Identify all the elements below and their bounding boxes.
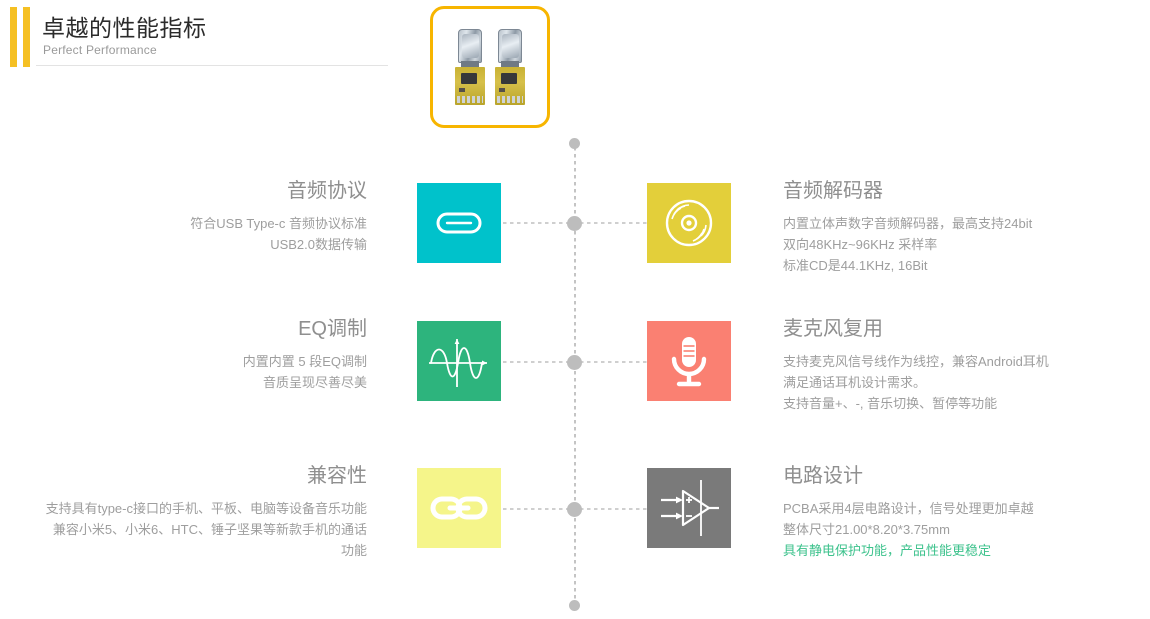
product-photo (433, 9, 547, 125)
feature-desc-line: 兼容小米5、小米6、HTC、锤子坚果等新款手机的通话 (0, 519, 367, 540)
feature-description: 支持麦克风信号线作为线控，兼容Android耳机 满足通话耳机设计需求。 支持音… (783, 351, 1143, 414)
feature-desc-line: 支持音量+、-, 音乐切换、暂停等功能 (783, 393, 1143, 414)
chip-small-icon (499, 88, 505, 92)
feature-tile-audio-decoder[interactable] (647, 183, 731, 263)
feature-tile-microphone[interactable] (647, 321, 731, 401)
feature-title: 音频协议 (0, 179, 367, 203)
product-photo-frame (430, 6, 550, 128)
connector-node-top (569, 138, 580, 149)
usb-c-plug-icon (458, 29, 482, 63)
connector-node-row3 (567, 502, 582, 517)
connector-vertical-line (574, 140, 576, 606)
feature-desc-line: 标准CD是44.1KHz, 16Bit (783, 255, 1143, 276)
feature-desc-line: 符合USB Type-c 音频协议标准 (0, 213, 367, 234)
feature-tile-eq-modulation[interactable] (417, 321, 501, 401)
feature-desc-line: 满足通话耳机设计需求。 (783, 372, 1143, 393)
sine-wave-icon (417, 321, 501, 401)
feature-description: 符合USB Type-c 音频协议标准 USB2.0数据传输 (0, 213, 367, 255)
section-header: 卓越的性能指标 Perfect Performance (0, 0, 400, 80)
chain-link-icon (417, 468, 501, 548)
feature-desc-line: 支持具有type-c接口的手机、平板、电脑等设备音乐功能 (0, 498, 367, 519)
feature-title: 兼容性 (0, 464, 367, 488)
usb-c-port-icon (417, 183, 501, 263)
cd-disc-icon (647, 183, 731, 263)
feature-description: PCBA采用4层电路设计，信号处理更加卓越 整体尺寸21.00*8.20*3.7… (783, 498, 1143, 561)
header-divider (36, 65, 388, 66)
feature-desc-line: 整体尺寸21.00*8.20*3.75mm (783, 519, 1143, 540)
pcb-pads (497, 96, 523, 103)
pcb-pads (457, 96, 483, 103)
feature-tile-circuit-design[interactable] (647, 468, 731, 548)
feature-tile-compatibility[interactable] (417, 468, 501, 548)
op-amp-icon (647, 468, 731, 548)
feature-text-eq-modulation: EQ调制 内置内置 5 段EQ调制 音质呈现尽善尽美 (0, 317, 367, 393)
connector-node-row2 (567, 355, 582, 370)
feature-title: 音频解码器 (783, 179, 1143, 203)
feature-description: 支持具有type-c接口的手机、平板、电脑等设备音乐功能 兼容小米5、小米6、H… (0, 498, 367, 561)
feature-text-circuit-design: 电路设计 PCBA采用4层电路设计，信号处理更加卓越 整体尺寸21.00*8.2… (783, 464, 1143, 561)
feature-text-audio-protocol: 音频协议 符合USB Type-c 音频协议标准 USB2.0数据传输 (0, 179, 367, 255)
feature-title: EQ调制 (0, 317, 367, 341)
feature-desc-line: 支持麦克风信号线作为线控，兼容Android耳机 (783, 351, 1143, 372)
feature-title: 电路设计 (783, 464, 1143, 488)
feature-text-compatibility: 兼容性 支持具有type-c接口的手机、平板、电脑等设备音乐功能 兼容小米5、小… (0, 464, 367, 561)
feature-desc-line: USB2.0数据传输 (0, 234, 367, 255)
pcb-module-left (455, 29, 485, 105)
feature-desc-line: 功能 (0, 540, 367, 561)
feature-desc-line: PCBA采用4层电路设计，信号处理更加卓越 (783, 498, 1143, 519)
feature-text-audio-decoder: 音频解码器 内置立体声数字音频解码器，最高支持24bit 双向48KHz~96K… (783, 179, 1143, 276)
microphone-icon (647, 321, 731, 401)
header-accent-bar-1 (10, 7, 17, 67)
feature-text-microphone: 麦克风复用 支持麦克风信号线作为线控，兼容Android耳机 满足通话耳机设计需… (783, 317, 1143, 414)
chip-icon (501, 73, 517, 84)
feature-desc-line: 双向48KHz~96KHz 采样率 (783, 234, 1143, 255)
header-accent-bars (10, 7, 32, 67)
feature-description: 内置立体声数字音频解码器，最高支持24bit 双向48KHz~96KHz 采样率… (783, 213, 1143, 276)
feature-desc-line: 内置内置 5 段EQ调制 (0, 351, 367, 372)
pcb-board (495, 67, 525, 105)
connector-node-bottom (569, 600, 580, 611)
connector-node-row1 (567, 216, 582, 231)
usb-c-plug-icon (498, 29, 522, 63)
feature-desc-line: 内置立体声数字音频解码器，最高支持24bit (783, 213, 1143, 234)
feature-desc-line: 音质呈现尽善尽美 (0, 372, 367, 393)
feature-title: 麦克风复用 (783, 317, 1143, 341)
header-accent-bar-2 (23, 7, 30, 67)
feature-description: 内置内置 5 段EQ调制 音质呈现尽善尽美 (0, 351, 367, 393)
chip-small-icon (459, 88, 465, 92)
feature-tile-audio-protocol[interactable] (417, 183, 501, 263)
feature-desc-line-highlighted: 具有静电保护功能，产品性能更稳定 (783, 540, 1143, 561)
page-subtitle: Perfect Performance (43, 43, 157, 57)
pcb-module-right (495, 29, 525, 105)
page-title: 卓越的性能指标 (42, 9, 207, 43)
pcb-board (455, 67, 485, 105)
chip-icon (461, 73, 477, 84)
